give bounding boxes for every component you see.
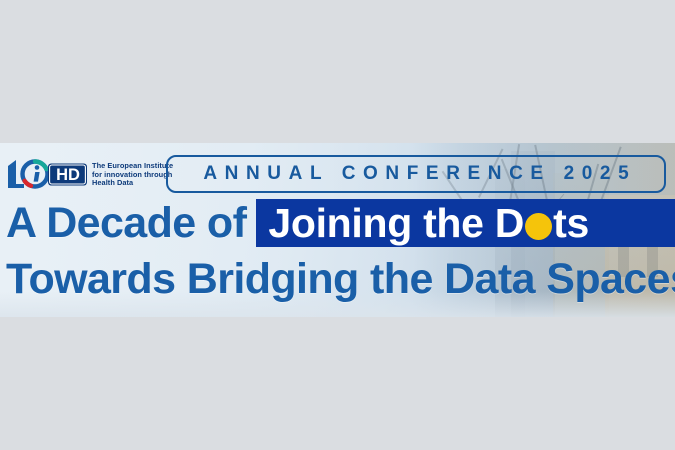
annual-conference-label: ANNUAL CONFERENCE 2025 <box>196 163 637 185</box>
headline-lead-text: A Decade of <box>0 199 256 248</box>
ihd-logo-tagline-line3: Health Data <box>92 179 173 188</box>
conference-banner: HD The European Institute for innovation… <box>0 143 675 317</box>
banner-headline: A Decade of Joining the D ts Towards Bri… <box>0 195 675 304</box>
annual-conference-pill: ANNUAL CONFERENCE 2025 <box>166 155 666 193</box>
ihd-logo-mark: HD <box>4 154 88 196</box>
highlight-prefix-text: Joining the D <box>268 200 524 247</box>
joining-the-dots-highlight: Joining the D ts <box>256 199 675 247</box>
headline-line-1: A Decade of Joining the D ts <box>0 195 675 251</box>
highlight-suffix-text: ts <box>553 200 589 247</box>
svg-text:HD: HD <box>56 166 80 184</box>
yellow-dot-icon <box>525 213 552 240</box>
ihd-logo: HD The European Institute for innovation… <box>4 153 173 197</box>
ihd-logo-tagline: The European Institute for innovation th… <box>92 162 173 188</box>
headline-line-2: Towards Bridging the Data Spaces <box>0 255 675 304</box>
